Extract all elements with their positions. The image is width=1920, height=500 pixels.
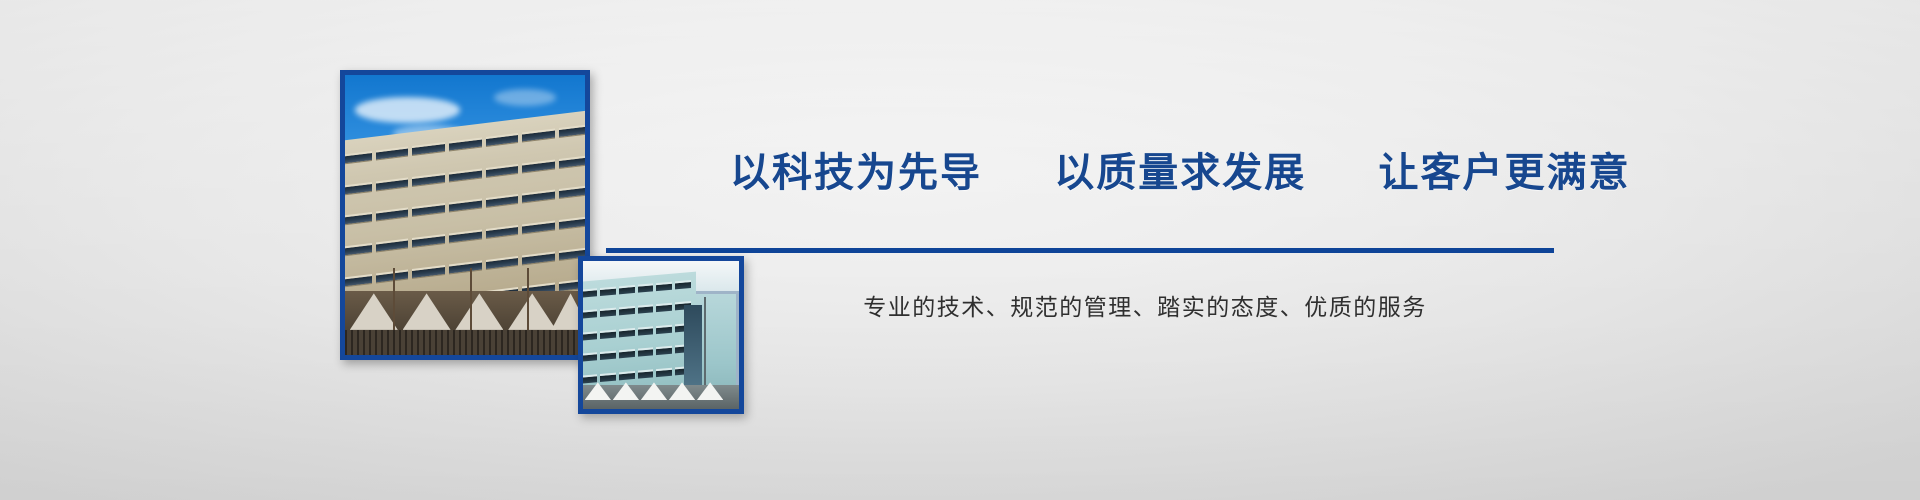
photo-frame-main-building	[340, 70, 590, 360]
headline-phrase-1: 以科技为先导	[730, 151, 982, 195]
photo-second-image	[583, 261, 739, 409]
perimeter-fence	[345, 330, 585, 355]
cloud-shape	[494, 89, 556, 106]
slogan-text-block: 以科技为先导 以质量求发展 让客户更满意 专业的技术、规范的管理、踏实的态度、优…	[0, 0, 1920, 500]
subline: 专业的技术、规范的管理、踏实的态度、优质的服务	[730, 288, 1560, 322]
headline: 以科技为先导 以质量求发展 让客户更满意	[730, 140, 1560, 198]
glass-curtain-wall	[684, 305, 701, 397]
photo-main-image	[345, 75, 585, 355]
window-row	[583, 300, 695, 318]
light-pole	[704, 297, 706, 389]
window-row	[583, 344, 695, 362]
window-grid	[583, 277, 695, 385]
cloud-shape	[355, 97, 461, 122]
company-slogan-banner: 以科技为先导 以质量求发展 让客户更满意 专业的技术、规范的管理、踏实的态度、优…	[0, 0, 1920, 500]
horizontal-divider	[606, 248, 1554, 253]
window-row	[583, 322, 695, 340]
photo-frame-second-building	[578, 256, 744, 414]
headline-phrase-2: 以质量求发展	[1054, 151, 1306, 195]
headline-phrase-3: 让客户更满意	[1379, 151, 1631, 195]
